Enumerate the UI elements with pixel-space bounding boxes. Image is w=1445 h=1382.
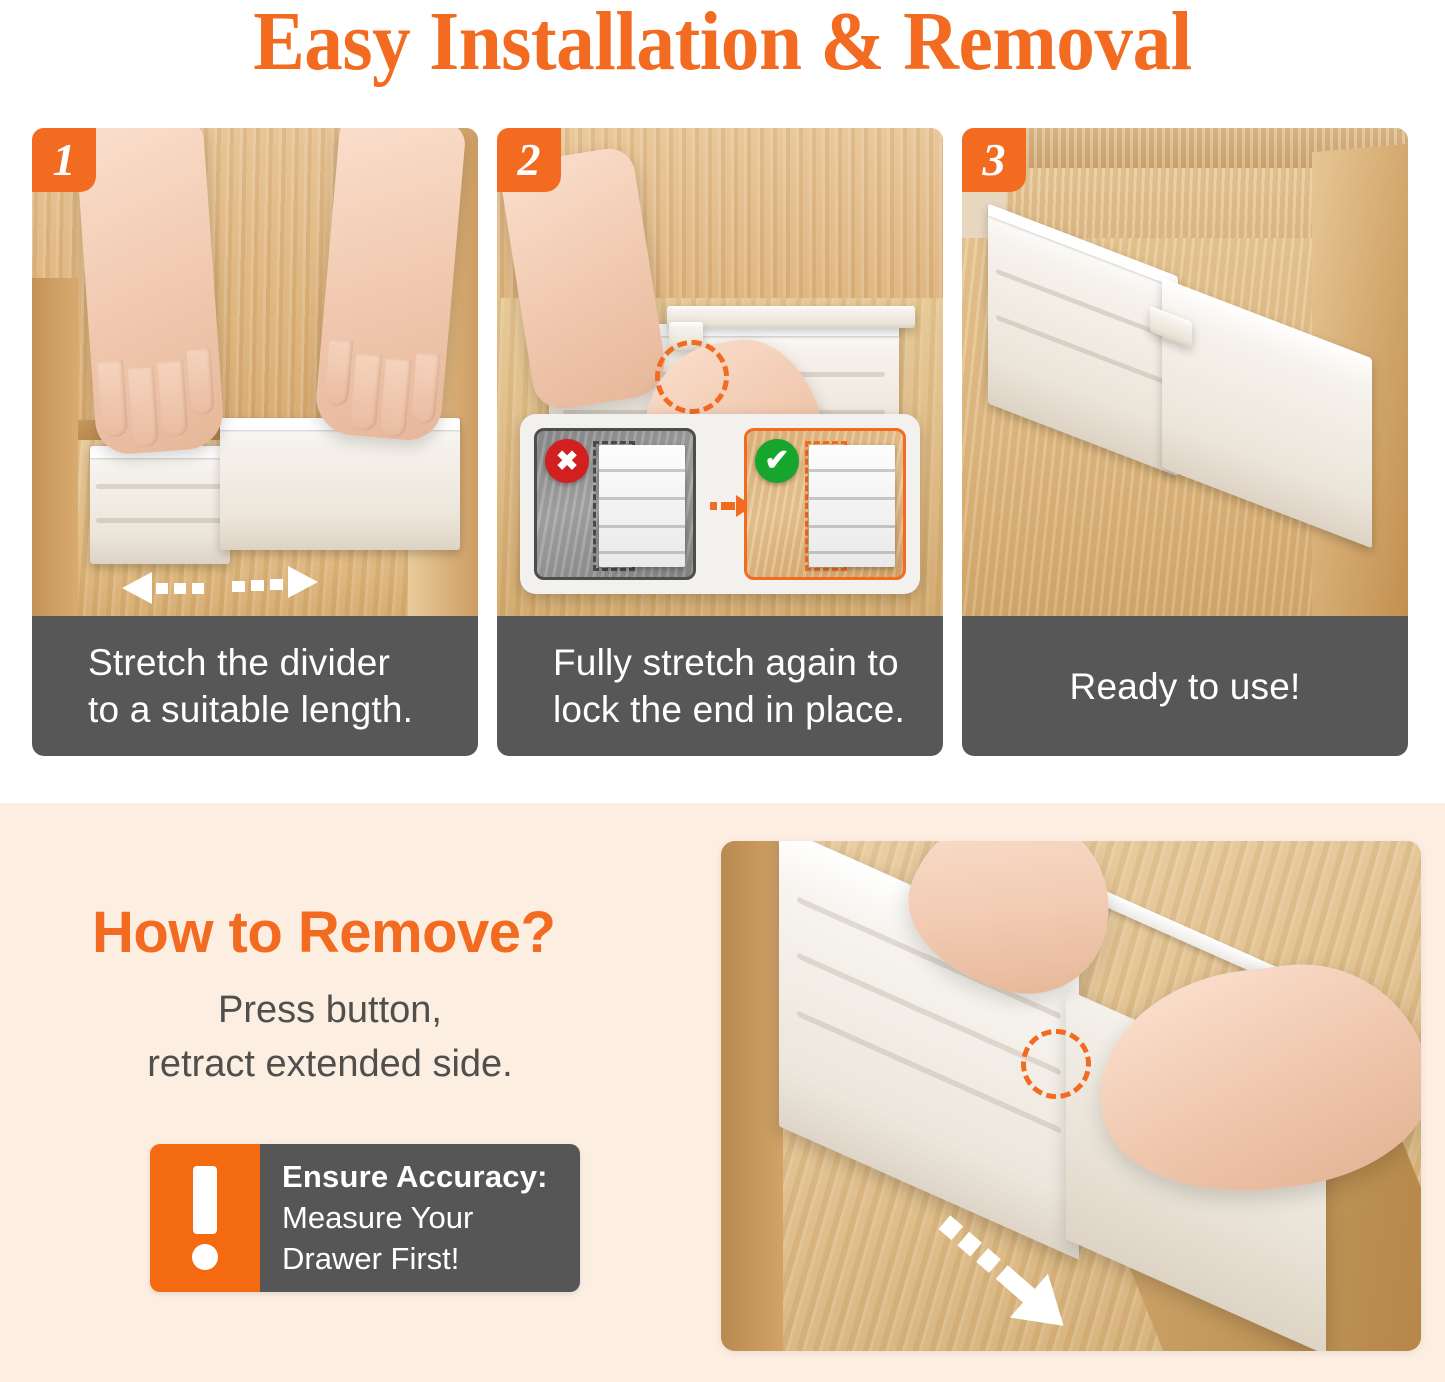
step-caption-2: Fully stretch again to lock the end in p… [497,616,943,756]
exclamation-bar [193,1166,217,1234]
comparison-inset-card: ✖ [520,414,920,594]
finger [350,353,383,431]
divider-panel [599,445,685,567]
step-2-photo: ✖ [497,128,943,625]
finger [186,348,215,416]
finger [157,360,188,438]
how-to-remove-section: How to Remove? Press button, retract ext… [0,803,1445,1382]
incorrect-example-image: ✖ [534,428,696,580]
remove-demo-photo [721,841,1421,1351]
page-title: Easy Installation & Removal [58,0,1387,88]
exclamation-mark-icon [150,1144,260,1292]
step-card-1: 1 Stretch the divider to a suitable leng… [32,128,478,756]
step-3-photo: 3 [962,128,1408,625]
left-hand [75,128,226,456]
divider-rib [96,484,225,489]
divider-panel [809,445,895,567]
divider-left-segment [90,446,230,564]
divider-rail [667,306,915,328]
callout-line-2: Measure Your [282,1197,580,1238]
finger [97,360,128,438]
drawer-side-wall [721,841,783,1351]
infographic-page: Easy Installation & Removal [0,0,1445,1382]
finger [410,353,440,425]
step-card-2: ✖ [497,128,943,756]
exclamation-dot [192,1244,218,1270]
correct-example-image: ✔ [744,428,906,580]
stretch-direction-arrow-icon [120,566,320,610]
callout-line-1: Ensure Accuracy: [282,1156,580,1197]
retract-direction-arrow-icon [919,1209,1089,1339]
step-card-3: 3 Ready to use! [962,128,1408,756]
finger [324,339,354,407]
callout-line-3: Drawer First! [282,1238,580,1279]
ensure-accuracy-callout: Ensure Accuracy: Measure Your Drawer Fir… [150,1144,580,1292]
finger [379,358,412,438]
step-badge-2: 2 [497,128,561,192]
steps-row: 1 Stretch the divider to a suitable leng… [32,128,1422,756]
lock-button-highlight-circle-icon [655,340,729,414]
drawer-left-edge [32,278,78,625]
cross-icon: ✖ [545,439,589,483]
check-icon: ✔ [755,439,799,483]
finger [128,366,160,448]
step-1-photo: 1 [32,128,478,625]
step-badge-3: 3 [962,128,1026,192]
step-badge-1: 1 [32,128,96,192]
how-to-remove-subtitle: Press button, retract extended side. [0,983,660,1091]
divider-right-segment [220,418,460,550]
step-caption-3: Ready to use! [962,616,1408,756]
release-button-highlight-circle-icon [1021,1029,1091,1099]
divider-rib [96,518,225,523]
step-caption-1: Stretch the divider to a suitable length… [32,616,478,756]
callout-text: Ensure Accuracy: Measure Your Drawer Fir… [260,1144,580,1292]
how-to-remove-title: How to Remove? [92,899,556,966]
